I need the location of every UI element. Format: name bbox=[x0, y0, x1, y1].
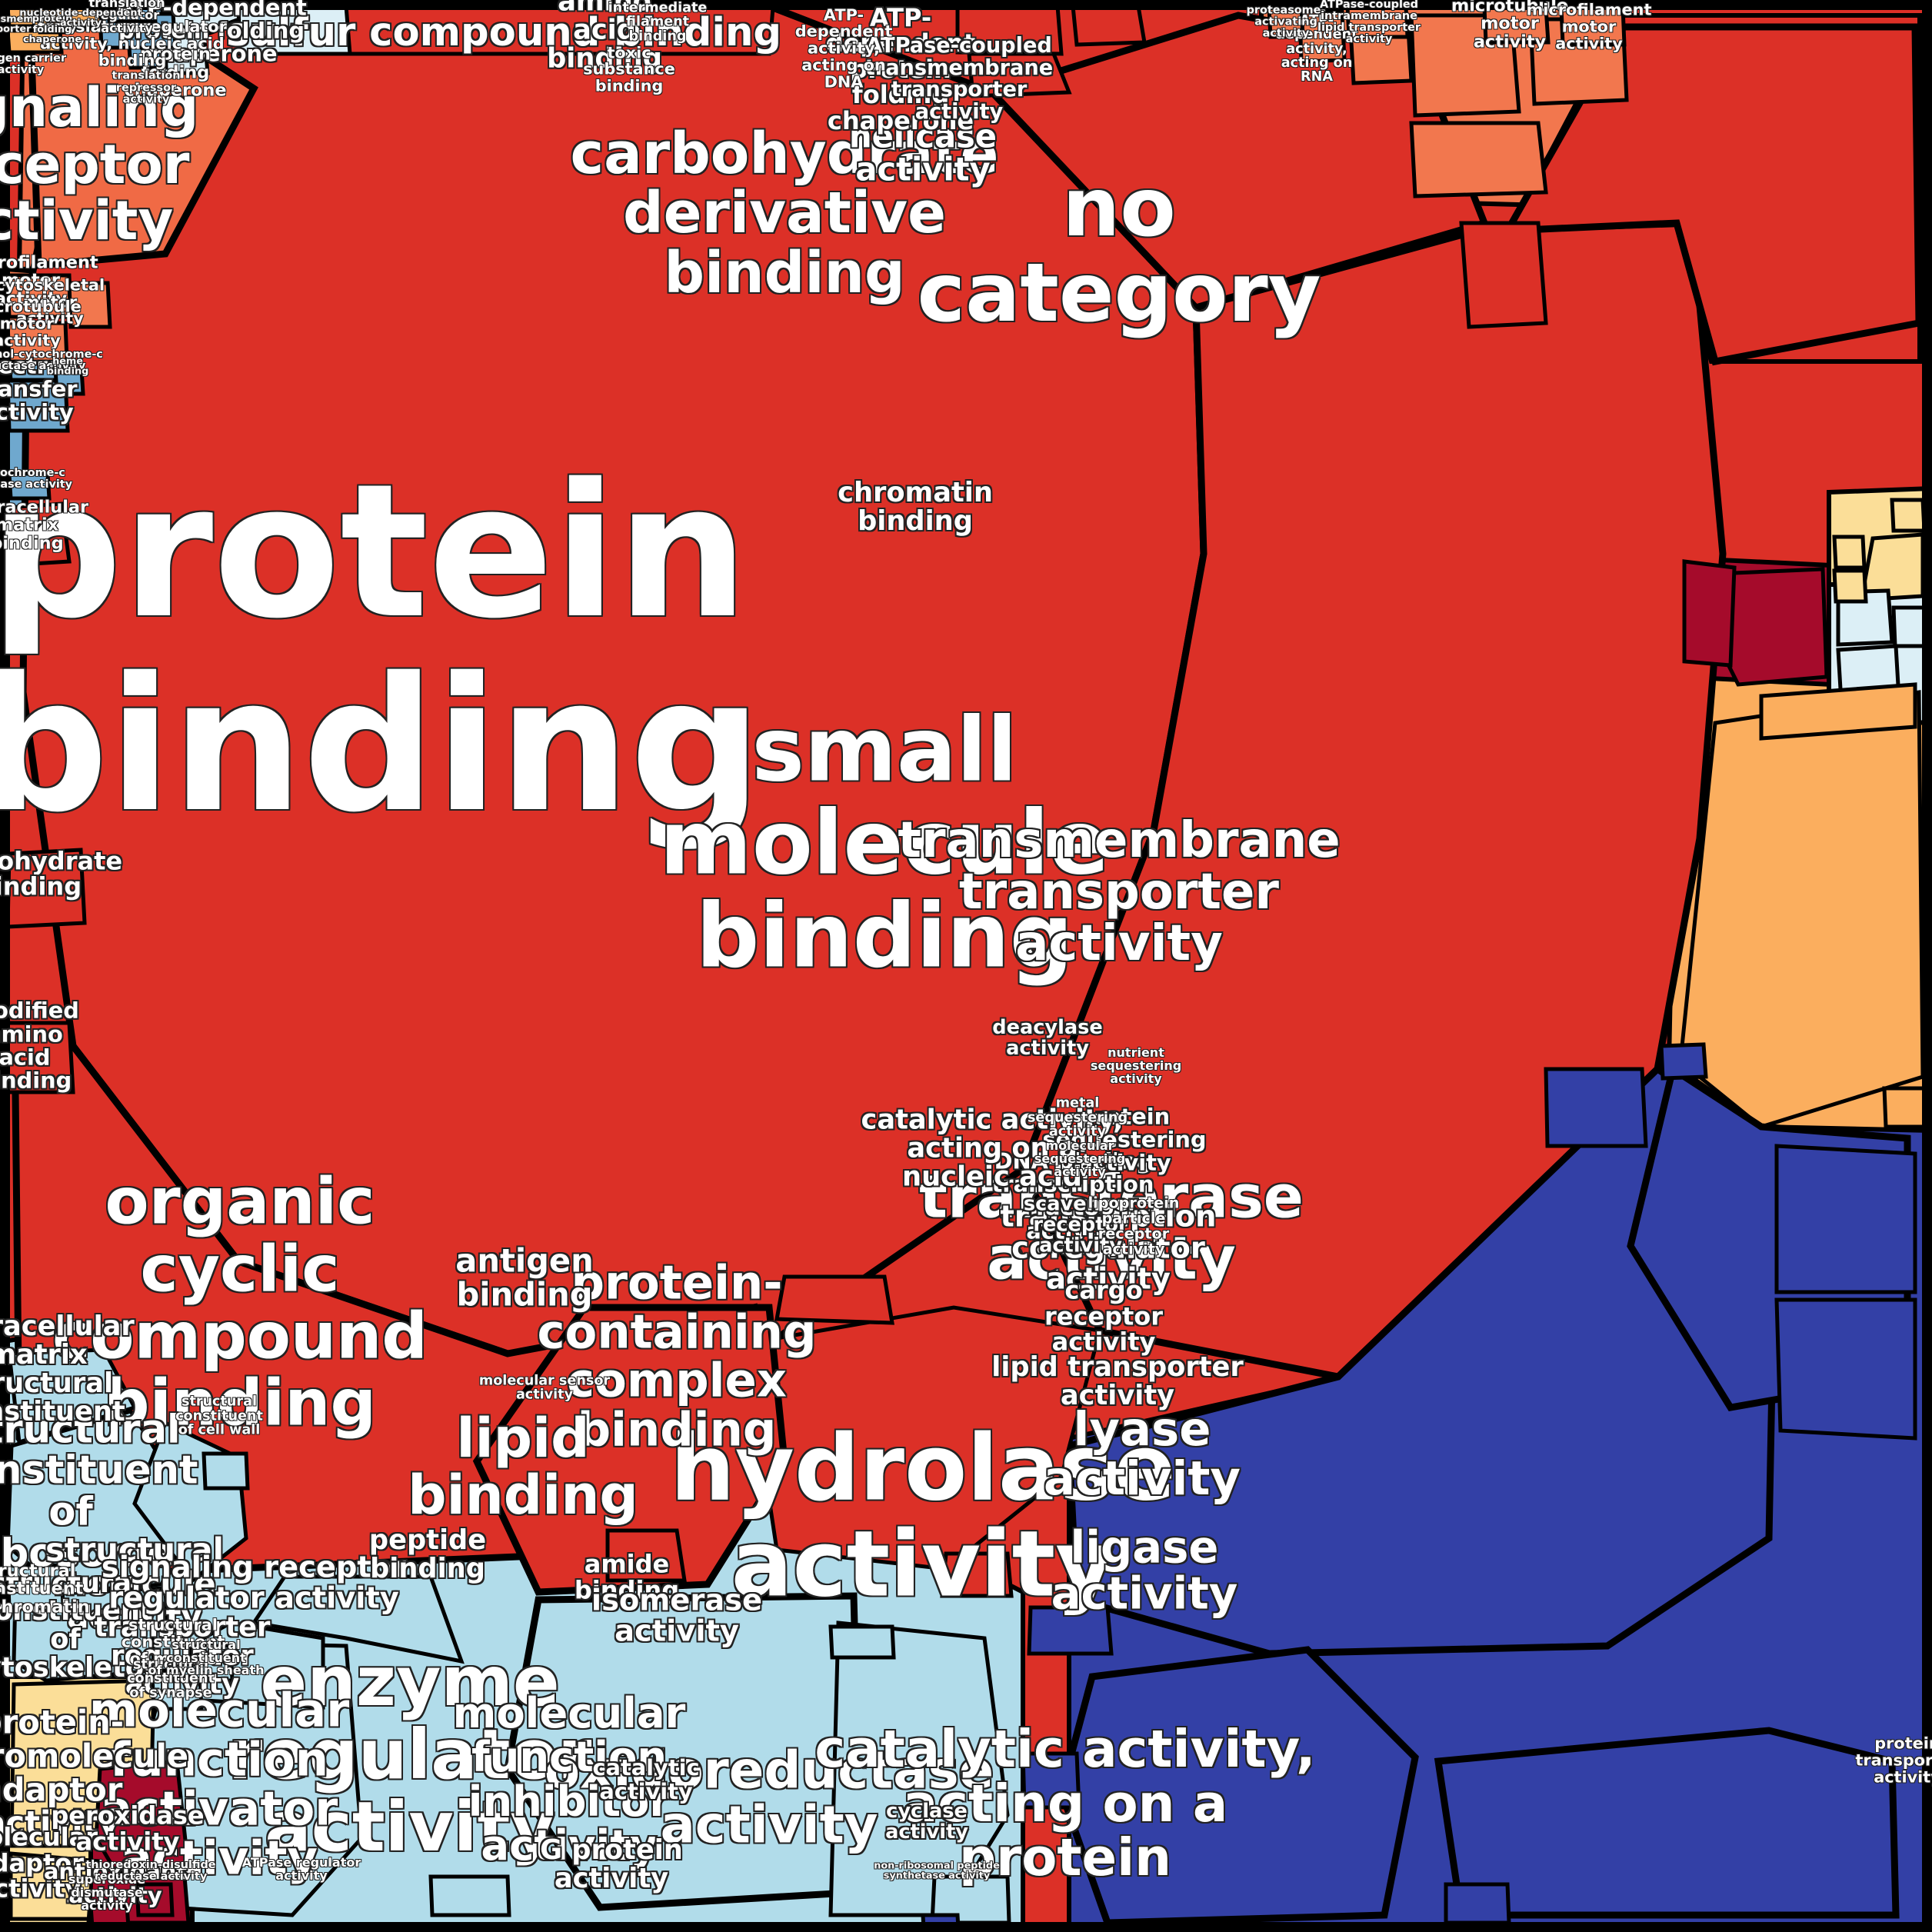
treemap-cell[interactable] bbox=[1300, 12, 1344, 62]
treemap-cell[interactable] bbox=[1892, 500, 1924, 531]
treemap-cell[interactable] bbox=[8, 275, 71, 317]
treemap-cell[interactable] bbox=[969, 54, 1069, 96]
treemap-cell[interactable] bbox=[8, 1023, 73, 1092]
treemap-cell[interactable] bbox=[1684, 561, 1734, 665]
treemap-cell[interactable] bbox=[1894, 608, 1926, 646]
treemap-cell[interactable] bbox=[191, 1646, 232, 1681]
treemap-cell[interactable] bbox=[1073, 6, 1144, 45]
treemap-cell[interactable] bbox=[1777, 1146, 1915, 1292]
treemap-cell[interactable] bbox=[8, 1565, 63, 1607]
treemap-cell[interactable] bbox=[1834, 537, 1864, 568]
treemap-cell[interactable] bbox=[1446, 1884, 1509, 1923]
treemap-cell[interactable] bbox=[8, 504, 69, 565]
treemap-cell[interactable] bbox=[69, 283, 110, 327]
treemap-cell[interactable] bbox=[129, 48, 166, 68]
treemap-cell[interactable] bbox=[1347, 8, 1407, 37]
treemap-cell[interactable] bbox=[958, 6, 1061, 54]
treemap-cell[interactable] bbox=[1484, 8, 1548, 42]
treemap-cell[interactable] bbox=[942, 1554, 1011, 1596]
treemap-cell[interactable] bbox=[831, 1627, 894, 1657]
treemap-cells bbox=[0, 0, 1932, 1932]
treemap-cell[interactable] bbox=[1023, 1754, 1079, 1807]
treemap-cell[interactable] bbox=[9, 474, 49, 498]
treemap-cell[interactable] bbox=[1269, 8, 1303, 37]
treemap-cell[interactable] bbox=[431, 1877, 509, 1915]
treemap-cell[interactable] bbox=[8, 850, 85, 927]
treemap-cell[interactable] bbox=[1411, 123, 1546, 196]
treemap-cell[interactable] bbox=[777, 1277, 892, 1323]
treemap-cell[interactable] bbox=[1546, 1069, 1646, 1146]
treemap-cell[interactable] bbox=[1029, 1607, 1111, 1654]
treemap-cell[interactable] bbox=[1834, 571, 1866, 601]
treemap-cell[interactable] bbox=[1561, 8, 1624, 45]
voronoi-treemap: protein bindingsmall molecule bindingorg… bbox=[0, 0, 1932, 1932]
treemap-cell[interactable] bbox=[8, 323, 67, 361]
treemap-cell[interactable] bbox=[1461, 223, 1546, 327]
treemap-cell[interactable] bbox=[204, 1454, 248, 1488]
treemap-cell[interactable] bbox=[1661, 1044, 1706, 1078]
treemap-cell[interactable] bbox=[238, 6, 350, 54]
treemap-cell[interactable] bbox=[11, 1854, 100, 1919]
treemap-cell[interactable] bbox=[1681, 692, 1923, 1127]
treemap-cell[interactable] bbox=[1761, 685, 1915, 738]
treemap-cell[interactable] bbox=[55, 369, 83, 394]
treemap-cell[interactable] bbox=[137, 1884, 172, 1915]
treemap-cell[interactable] bbox=[608, 1531, 685, 1581]
treemap-cell[interactable] bbox=[1777, 1300, 1915, 1438]
